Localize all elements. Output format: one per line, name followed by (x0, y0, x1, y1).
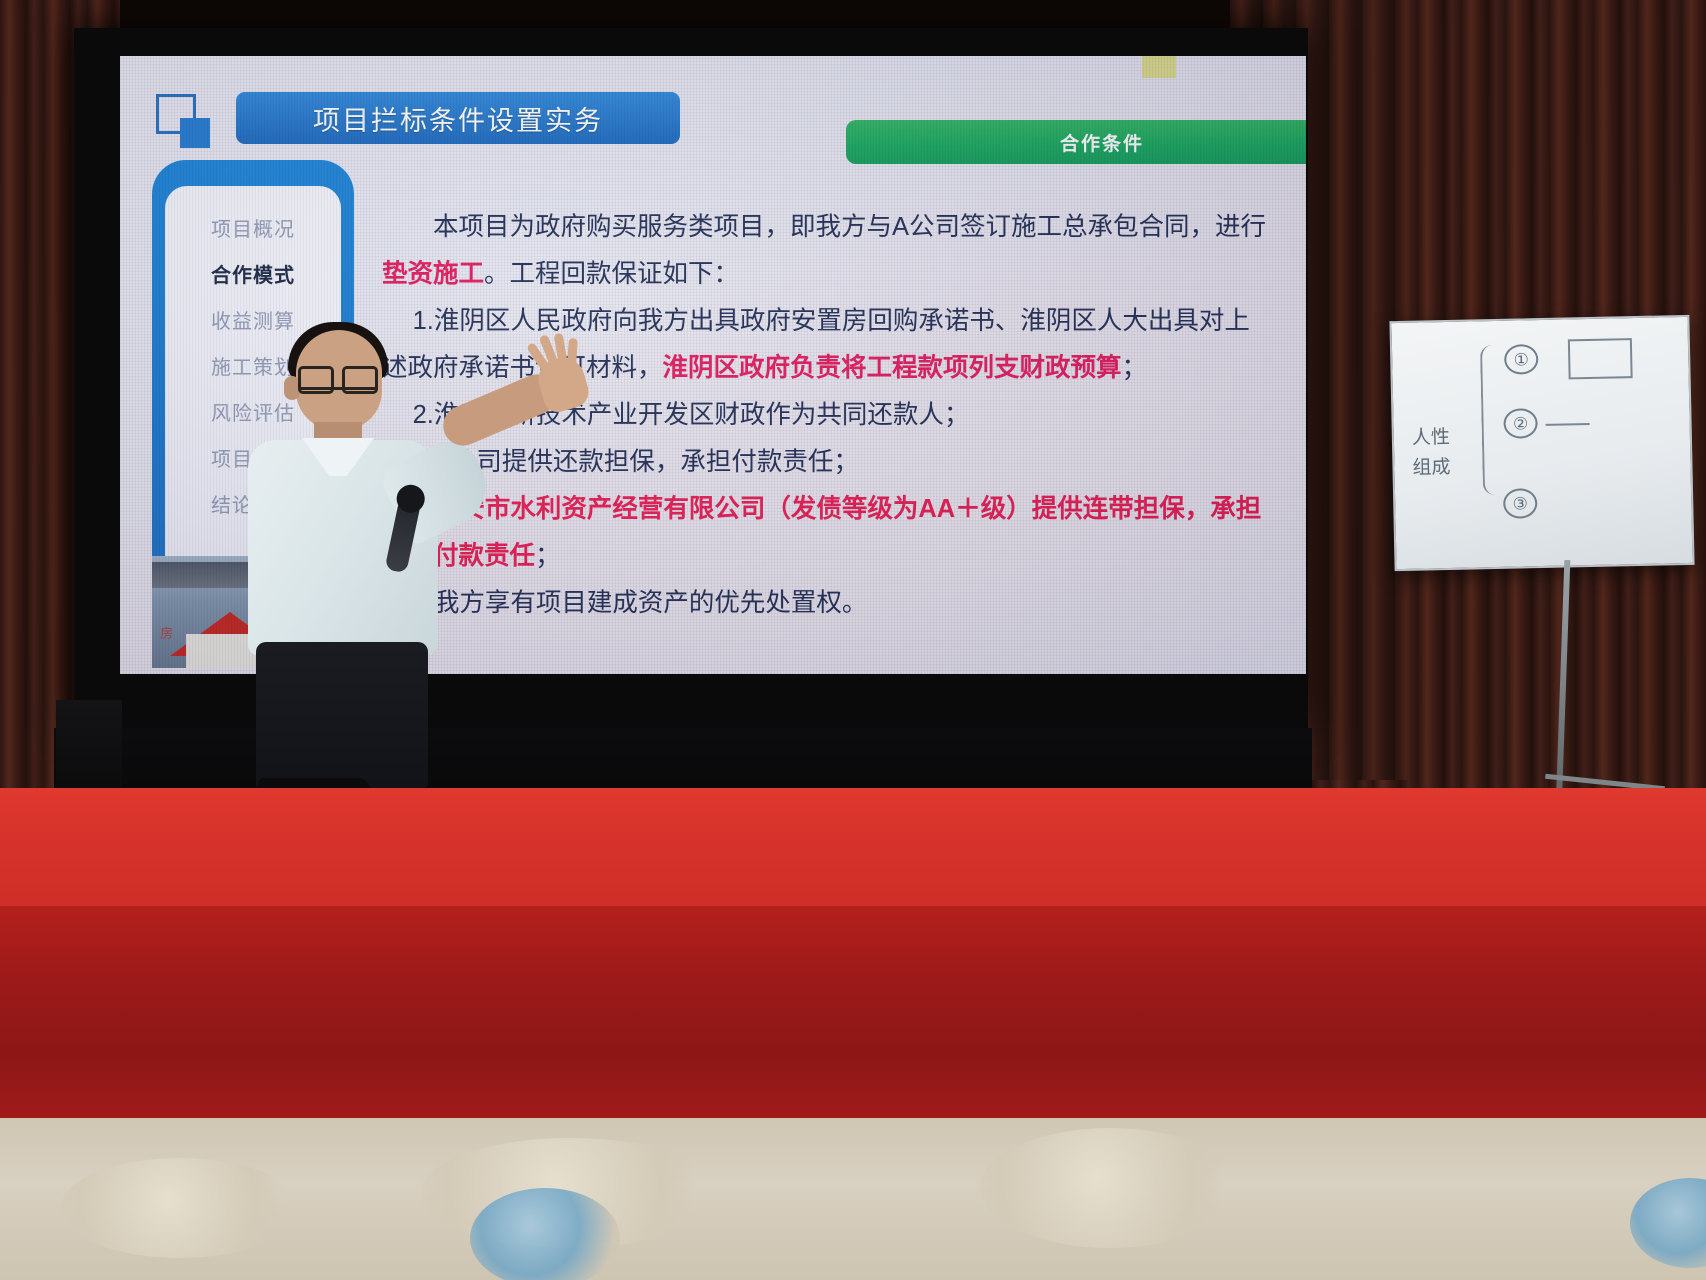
whiteboard-marker-3: ③ (1503, 488, 1538, 519)
square-logo-icon (156, 94, 212, 150)
whiteboard-note-2: 组成 (1412, 456, 1451, 481)
presenter-trousers (256, 642, 428, 788)
status-badge: 合作条件 (1060, 129, 1144, 156)
glasses-icon (298, 370, 378, 390)
floor-carpet (0, 1118, 1706, 1280)
whiteboard-marker-2: ② (1503, 408, 1538, 439)
intro-paragraph: 本项目为政府购买服务类项目，即我方与A公司签订施工总承包合同，进行垫资施工。工程… (382, 204, 1268, 298)
slide-title-bar: 项目拦标条件设置实务 (236, 92, 680, 144)
section-badge: 合作条件 (846, 120, 1306, 164)
item-text-tail: ； (1122, 354, 1148, 382)
carpet-pattern (60, 1158, 300, 1258)
whiteboard-note-1: 人性 (1412, 426, 1451, 451)
sidebar-item-label: 项目概况 (211, 213, 295, 242)
intro-text-b: 。工程回款保证如下： (484, 260, 739, 288)
intro-text-a: 本项目为政府购买服务类项目，即我方与A公司签订施工总承包合同，进行 (433, 213, 1266, 241)
sidebar-item-cooperation-model[interactable]: 合作模式 (165, 250, 341, 296)
presenter-finger (567, 338, 578, 369)
stage-platform-top (0, 788, 1706, 906)
sidebar-item-project-overview[interactable]: 项目概况 (165, 204, 341, 250)
whiteboard-arrow-mark (1546, 423, 1590, 426)
presenter (240, 330, 570, 800)
stage-platform-face (0, 906, 1706, 1118)
page-title: 项目拦标条件设置实务 (313, 99, 603, 138)
carpet-flower (1630, 1178, 1706, 1268)
whiteboard-marker-1: ① (1504, 344, 1539, 375)
sidebar-item-label: 合作模式 (211, 259, 295, 288)
item-highlight: 淮阴区政府负责将工程款项列支财政预算 (663, 354, 1122, 382)
corner-accent (1142, 56, 1176, 78)
intro-highlight: 垫资施工 (382, 260, 484, 288)
whiteboard-brace-mark (1480, 345, 1501, 495)
whiteboard: 人性 组成 ① ② ③ (1389, 315, 1694, 571)
thumbnail-caption: 房 (160, 623, 173, 642)
whiteboard-box-mark (1568, 338, 1633, 379)
carpet-pattern (980, 1128, 1240, 1248)
logo-inner-square (180, 118, 210, 148)
carpet-flower (470, 1188, 620, 1280)
